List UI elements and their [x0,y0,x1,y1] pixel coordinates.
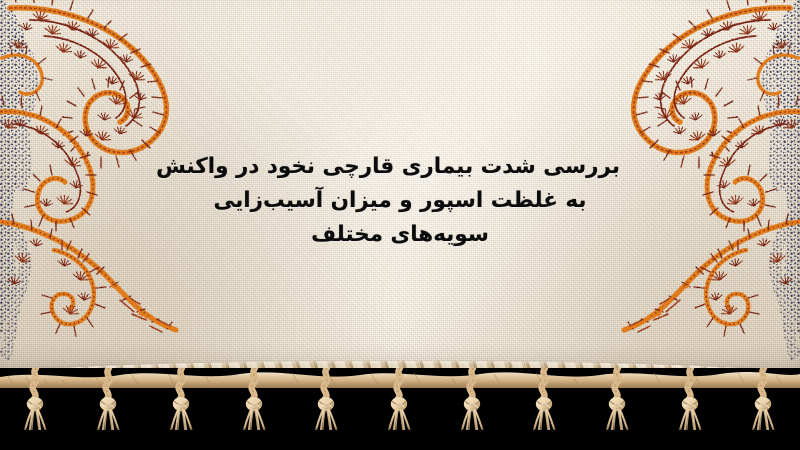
bottom-backdrop [0,430,800,450]
slide-canvas: بررسی شدت بیماری قارچی نخود در واکنش به … [0,0,800,450]
slide-title: بررسی شدت بیماری قارچی نخود در واکنش به … [180,150,620,252]
title-line-2: به غلظت اسپور و میزان آسیب‌زایی [180,184,620,218]
title-line-1: بررسی شدت بیماری قارچی نخود در واکنش [180,150,620,184]
title-line-3: سویه‌های مختلف [180,218,620,252]
